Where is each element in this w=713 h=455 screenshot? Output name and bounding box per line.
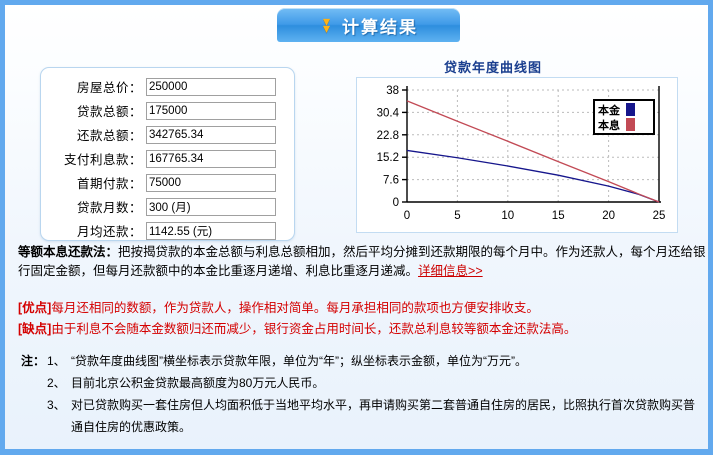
form-row-repay-total: 还款总额： <box>41 124 294 145</box>
svg-text:10: 10 <box>501 210 514 222</box>
form-row-house-price: 房屋总价： <box>41 76 294 97</box>
page-title: 计算结果 <box>342 13 418 38</box>
result-form-panel: 房屋总价： 贷款总额： 还款总额： 支付利息款： 首期付款： 贷款月数： 月均还… <box>40 67 295 241</box>
notes-label: 注： <box>21 350 47 372</box>
input-loan-total[interactable] <box>146 102 276 120</box>
note-1-number: 1、 <box>47 350 71 372</box>
svg-text:38: 38 <box>386 85 399 97</box>
more-info-link[interactable]: 详细信息>> <box>418 264 483 278</box>
svg-text:7.6: 7.6 <box>383 175 399 187</box>
legend-item-interest: 本息 <box>598 117 653 132</box>
note-item-1: 注： 1、 “贷款年度曲线图”横坐标表示贷款年限，单位为“年”；纵坐标表示金额，… <box>21 350 703 372</box>
chart-ticks <box>402 90 407 202</box>
note-3-text: 对已贷款购买一套住房但人均面积低于当地平均水平，再申请购买第二套普通自住房的居民… <box>71 394 703 438</box>
chart-legend: 本金 本息 <box>593 99 655 135</box>
svg-text:22.8: 22.8 <box>377 130 399 142</box>
form-row-interest-paid: 支付利息款： <box>41 148 294 169</box>
label-interest-paid: 支付利息款： <box>41 149 146 168</box>
svg-text:0: 0 <box>404 210 410 222</box>
note-2-text: 目前北京公积金贷款最高额度为80万元人民币。 <box>71 372 703 394</box>
label-monthly-payment: 月均还款： <box>41 221 146 240</box>
label-house-price: 房屋总价： <box>41 77 146 96</box>
input-interest-paid[interactable] <box>146 150 276 168</box>
form-row-monthly-payment: 月均还款： <box>41 220 294 241</box>
pros-line: [优点]每月还相同的数额，作为贷款人，操作相对简单。每月承担相同的款项也方便安排… <box>18 298 706 319</box>
note-1-text: “贷款年度曲线图”横坐标表示贷款年限，单位为“年”；纵坐标表示金额，单位为“万元… <box>71 350 527 372</box>
input-down-payment[interactable] <box>146 174 276 192</box>
cons-line: [缺点]由于利息不会随本金数额归还而减少，银行资金占用时间长，还款总利息较等额本… <box>18 319 706 340</box>
svg-text:15.2: 15.2 <box>377 152 399 164</box>
legend-swatch-principal <box>626 103 635 116</box>
page-header-tab: ▾▾ 计算结果 <box>277 8 460 42</box>
double-chevron-down-icon: ▾▾ <box>319 15 334 35</box>
svg-text:20: 20 <box>602 210 615 222</box>
loan-curve-chart: 07.615.222.830.4380510152025 本金 本息 <box>356 77 678 233</box>
form-row-loan-total: 贷款总额： <box>41 100 294 121</box>
cons-tag: [缺点] <box>18 322 51 336</box>
pros-tag: [优点] <box>18 301 51 315</box>
svg-text:15: 15 <box>552 210 565 222</box>
chart-title: 贷款年度曲线图 <box>423 57 563 76</box>
form-row-down-payment: 首期付款： <box>41 172 294 193</box>
note-item-3: 3、 对已贷款购买一套住房但人均面积低于当地平均水平，再申请购买第二套普通自住房… <box>47 394 703 438</box>
legend-label-principal: 本金 <box>598 102 620 118</box>
note-2-number: 2、 <box>47 372 71 394</box>
pros-text: 每月还相同的数额，作为贷款人，操作相对简单。每月承担相同的款项也方便安排收支。 <box>51 301 539 315</box>
legend-swatch-interest <box>626 118 635 131</box>
svg-text:0: 0 <box>393 197 399 209</box>
note-item-2: 2、 目前北京公积金贷款最高额度为80万元人民币。 <box>47 372 703 394</box>
label-repay-total: 还款总额： <box>41 125 146 144</box>
svg-text:5: 5 <box>454 210 460 222</box>
method-term: 等额本息还款法： <box>18 245 118 259</box>
input-monthly-payment[interactable] <box>146 222 276 240</box>
cons-text: 由于利息不会随本金数额归还而减少，银行资金占用时间长，还款总利息较等额本金还款法… <box>51 322 576 336</box>
label-down-payment: 首期付款： <box>41 173 146 192</box>
svg-text:25: 25 <box>653 210 666 222</box>
method-body: 把按揭贷款的本金总额与利息总额相加，然后平均分摊到还款期限的每个月中。作为还款人… <box>18 245 706 278</box>
input-repay-total[interactable] <box>146 126 276 144</box>
input-house-price[interactable] <box>146 78 276 96</box>
legend-item-principal: 本金 <box>598 102 653 117</box>
method-description: 等额本息还款法：把按揭贷款的本金总额与利息总额相加，然后平均分摊到还款期限的每个… <box>18 243 706 281</box>
legend-label-interest: 本息 <box>598 117 620 133</box>
notes-section: 注： 1、 “贷款年度曲线图”横坐标表示贷款年限，单位为“年”；纵坐标表示金额，… <box>21 350 703 438</box>
form-row-loan-months: 贷款月数： <box>41 196 294 217</box>
label-loan-total: 贷款总额： <box>41 101 146 120</box>
svg-text:30.4: 30.4 <box>377 107 400 119</box>
label-loan-months: 贷款月数： <box>41 197 146 216</box>
note-3-number: 3、 <box>47 394 71 438</box>
calculator-result-page: ▾▾ 计算结果 房屋总价： 贷款总额： 还款总额： 支付利息款： 首期付款： 贷… <box>0 0 713 455</box>
input-loan-months[interactable] <box>146 198 276 216</box>
